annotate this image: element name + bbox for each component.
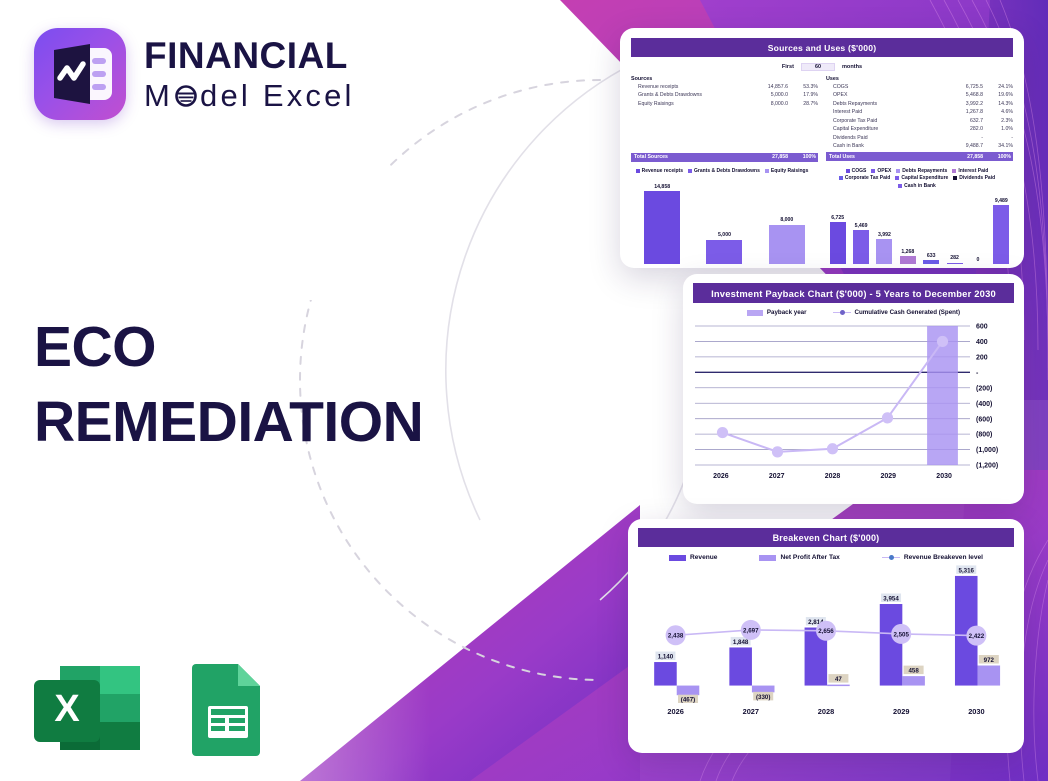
- bar-group: 9,489: [993, 198, 1009, 265]
- y-axis-tick-label: (1,000): [976, 447, 998, 454]
- legend-item: Equity Raisings: [765, 168, 809, 174]
- revenue-value-label: 5,316: [959, 567, 975, 574]
- uses-label: COGS: [826, 83, 941, 91]
- bar-group: 3,992: [876, 232, 892, 264]
- sources-label: Revenue receipts: [631, 83, 746, 91]
- revenue-bar: [654, 662, 677, 686]
- months-input[interactable]: 60: [801, 63, 835, 71]
- x-axis-tick-label: 2026: [693, 473, 749, 480]
- breakeven-value-label: 2,422: [969, 633, 985, 640]
- sources-header: Sources: [631, 76, 818, 82]
- x-axis-tick-label: 2029: [864, 707, 939, 716]
- sources-uses-charts: Revenue receiptsGrants & Debts Drawdowns…: [631, 168, 1013, 265]
- legend-revenue: Revenue: [669, 554, 718, 561]
- x-axis-tick-label: 2028: [788, 707, 863, 716]
- legend-item: OPEX: [871, 168, 891, 174]
- svg-text:X: X: [54, 688, 80, 730]
- legend-item: Grants & Debts Drawdowns: [688, 168, 760, 174]
- first-label: First: [782, 64, 794, 70]
- legend-swatch-icon: [953, 176, 957, 180]
- bar: [876, 239, 892, 264]
- sources-uses-title: Sources and Uses ($'000): [631, 38, 1013, 57]
- page-title-line1: ECO: [34, 310, 423, 385]
- legend-swatch-icon: [669, 555, 686, 561]
- bar-group: 6,725: [830, 215, 846, 264]
- sources-total-pct: 100%: [788, 154, 818, 160]
- legend-line-icon: [833, 312, 851, 314]
- uses-value: 5,468.8: [941, 91, 983, 99]
- uses-label: Capital Expenditure: [826, 125, 941, 133]
- uses-pct: 1.0%: [983, 125, 1013, 133]
- uses-pct: -: [983, 134, 1013, 142]
- bar-group: 14,858: [644, 184, 680, 265]
- uses-pct: 19.6%: [983, 91, 1013, 99]
- npat-value-label: 47: [835, 676, 842, 683]
- uses-value: 282.0: [941, 125, 983, 133]
- bar: [830, 222, 846, 264]
- y-axis-tick-label: 600: [976, 324, 988, 331]
- payback-plot: 600400200-(200)(400)(600)(800)(1,000)(1,…: [693, 323, 1014, 470]
- sources-pct: 53.3%: [788, 83, 818, 91]
- uses-value: 1,267.8: [941, 108, 983, 116]
- revenue-bar: [880, 604, 903, 686]
- legend-swatch-icon: [759, 555, 776, 561]
- uses-row: Interest Paid1,267.84.6%: [826, 108, 1013, 116]
- y-axis-tick-label: 400: [976, 339, 988, 346]
- npat-bar: [752, 686, 775, 693]
- financial-model-app-icon: [34, 28, 126, 120]
- uses-pct: 34.1%: [983, 142, 1013, 150]
- brand-name-bottom-post: del Excel: [200, 80, 355, 111]
- legend-swatch-icon: [846, 169, 850, 173]
- legend-swatch-icon: [688, 169, 692, 173]
- breakeven-value-label: 2,656: [818, 628, 834, 635]
- legend-label: Capital Expenditure: [901, 175, 948, 181]
- bar: [769, 225, 805, 264]
- y-axis-tick-label: 200: [976, 354, 988, 361]
- breakeven-value-label: 2,505: [893, 631, 909, 638]
- payback-legend: Payback year Cumulative Cash Generated (…: [693, 309, 1014, 316]
- uses-label: Interest Paid: [826, 108, 941, 116]
- uses-value: 632.7: [941, 117, 983, 125]
- y-axis-tick-label: (1,200): [976, 463, 998, 470]
- breakeven-legend: Revenue Net Profit After Tax Revenue Bre…: [638, 554, 1014, 561]
- legend-label: Revenue receipts: [642, 168, 683, 174]
- uses-pct: 14.3%: [983, 100, 1013, 108]
- data-point: [937, 336, 948, 347]
- revenue-bar: [729, 647, 752, 685]
- x-axis-tick-label: 2027: [749, 473, 805, 480]
- bar-value-label: 0: [976, 257, 979, 263]
- x-axis-tick-label: 2027: [713, 707, 788, 716]
- cumulative-cash-line: [723, 341, 943, 451]
- legend-cumulative-cash: Cumulative Cash Generated (Spent): [833, 309, 961, 316]
- sources-uses-table: Sources Revenue receipts14,857.653.3%Gra…: [631, 76, 1013, 162]
- uses-label: Corporate Tax Paid: [826, 117, 941, 125]
- legend-label: Debts Repayments: [902, 168, 947, 174]
- npat-value-label: 458: [908, 668, 919, 675]
- payback-x-axis: 20262027202820292030: [693, 473, 1014, 480]
- sources-chart-block: Revenue receiptsGrants & Debts Drawdowns…: [631, 168, 818, 265]
- legend-item: Dividends Paid: [953, 175, 995, 181]
- npat-value-label: 972: [984, 657, 995, 664]
- npat-value-label: (330): [756, 694, 770, 701]
- legend-npat: Net Profit After Tax: [759, 554, 839, 561]
- legend-line-icon: [882, 557, 900, 559]
- uses-total-row: Total Uses 27,858 100%: [826, 152, 1013, 161]
- y-axis-tick-label: -: [976, 370, 979, 377]
- x-axis-tick-label: 2029: [860, 473, 916, 480]
- legend-label: COGS: [852, 168, 867, 174]
- sources-row: Revenue receipts14,857.653.3%: [631, 83, 818, 91]
- sources-total-row: Total Sources 27,858 100%: [631, 153, 818, 162]
- uses-pct: 24.1%: [983, 83, 1013, 91]
- legend-payback-year: Payback year: [747, 309, 807, 316]
- bar-group: 282: [947, 255, 963, 264]
- uses-row: Capital Expenditure282.01.0%: [826, 125, 1013, 133]
- legend-swatch-icon: [896, 169, 900, 173]
- bar-group: 1,268: [900, 249, 916, 264]
- sources-and-uses-card[interactable]: Sources and Uses ($'000) First 60 months…: [620, 28, 1024, 268]
- legend-swatch-icon: [952, 169, 956, 173]
- npat-bar: [902, 676, 925, 685]
- left-content-panel: FINANCIAL M del Excel ECO REMEDIATION: [0, 0, 500, 781]
- sources-pct: 17.9%: [788, 91, 818, 99]
- bar-value-label: 5,469: [855, 223, 868, 229]
- legend-item: Revenue receipts: [636, 168, 683, 174]
- npat-value-label: (467): [681, 697, 695, 703]
- breakeven-plot: 1,140(467)1,848(330)2,814473,9544585,316…: [638, 565, 1014, 703]
- page-title: ECO REMEDIATION: [34, 310, 423, 460]
- bar-value-label: 6,725: [831, 215, 844, 221]
- legend-label: OPEX: [877, 168, 891, 174]
- uses-row: COGS6,725.524.1%: [826, 83, 1013, 91]
- google-sheets-icon: [186, 658, 270, 758]
- sources-pct: 28.7%: [788, 100, 818, 108]
- sources-bar-chart: 14,8585,0008,000: [631, 180, 818, 264]
- legend-item: Cash in Bank: [898, 183, 936, 189]
- npat-bar: [978, 666, 1001, 686]
- o-glyph-icon: [173, 83, 199, 109]
- uses-label: Debts Repayments: [826, 100, 941, 108]
- bar: [644, 191, 680, 264]
- data-point: [882, 412, 893, 423]
- legend-item: COGS: [846, 168, 867, 174]
- bar: [900, 256, 916, 264]
- y-axis-tick-label: (600): [976, 416, 992, 423]
- brand-name-bottom-pre: M: [144, 80, 173, 111]
- breakeven-value-label: 2,438: [668, 633, 684, 640]
- microsoft-excel-icon: X: [30, 658, 148, 758]
- bar-value-label: 9,489: [995, 198, 1008, 204]
- app-compatibility-icons: X: [30, 658, 270, 758]
- y-axis-tick-label: (400): [976, 401, 992, 408]
- x-axis-tick-label: 2030: [939, 707, 1014, 716]
- bar-value-label: 3,992: [878, 232, 891, 238]
- legend-item: Debts Repayments: [896, 168, 947, 174]
- revenue-value-label: 3,954: [883, 596, 899, 603]
- legend-swatch-icon: [636, 169, 640, 173]
- sources-row: Equity Raisings8,000.028.7%: [631, 100, 818, 108]
- legend-label: Equity Raisings: [771, 168, 809, 174]
- bar: [947, 263, 963, 265]
- brand-name-bottom: M del Excel: [144, 80, 355, 111]
- legend-breakeven-level: Revenue Breakeven level: [882, 554, 983, 561]
- bar: [853, 230, 869, 264]
- bar-value-label: 14,858: [654, 184, 670, 190]
- uses-label: Cash in Bank: [826, 142, 941, 150]
- bar-group: 633: [923, 253, 939, 264]
- bar: [706, 240, 742, 265]
- legend-swatch-icon: [895, 176, 899, 180]
- uses-column: Uses COGS6,725.524.1%OPEX5,468.819.6%Deb…: [826, 76, 1013, 162]
- data-point: [827, 443, 838, 454]
- months-label: months: [842, 64, 862, 70]
- sources-row: Grants & Debts Drawdowns5,000.017.9%: [631, 91, 818, 99]
- x-axis-tick-label: 2026: [638, 707, 713, 716]
- legend-label: Interest Paid: [958, 168, 988, 174]
- bar-value-label: 282: [950, 255, 959, 261]
- bar-value-label: 1,268: [901, 249, 914, 255]
- uses-row: Dividends Paid--: [826, 134, 1013, 142]
- uses-value: 3,992.2: [941, 100, 983, 108]
- data-point: [772, 446, 783, 457]
- legend-label: Corporate Tax Paid: [845, 175, 890, 181]
- legend-swatch-icon: [765, 169, 769, 173]
- sources-value: 14,857.6: [746, 83, 788, 91]
- legend-item: Capital Expenditure: [895, 175, 948, 181]
- npat-bar: [677, 686, 700, 696]
- breakeven-card[interactable]: Breakeven Chart ($'000) Revenue Net Prof…: [628, 519, 1024, 753]
- legend-item: Corporate Tax Paid: [839, 175, 890, 181]
- uses-value: 9,488.7: [941, 142, 983, 150]
- uses-row: Corporate Tax Paid632.72.3%: [826, 117, 1013, 125]
- sources-total-value: 27,858: [746, 154, 788, 160]
- legend-swatch-icon: [871, 169, 875, 173]
- uses-value: 6,725.5: [941, 83, 983, 91]
- uses-total-value: 27,858: [941, 154, 983, 160]
- revenue-value-label: 1,848: [733, 639, 749, 646]
- x-axis-tick-label: 2028: [805, 473, 861, 480]
- uses-total-pct: 100%: [983, 154, 1013, 160]
- legend-label: Grants & Debts Drawdowns: [694, 168, 760, 174]
- data-point: [717, 427, 728, 438]
- sources-total-label: Total Sources: [631, 154, 746, 160]
- brand-name-top: FINANCIAL: [144, 37, 355, 74]
- page-title-line2: REMEDIATION: [34, 385, 423, 460]
- bar-group: 0: [970, 257, 986, 265]
- sources-column: Sources Revenue receipts14,857.653.3%Gra…: [631, 76, 818, 162]
- brand-logo: FINANCIAL M del Excel: [34, 28, 355, 120]
- payback-title: Investment Payback Chart ($'000) - 5 Yea…: [693, 283, 1014, 303]
- uses-pct: 2.3%: [983, 117, 1013, 125]
- legend-swatch-icon: [747, 310, 763, 316]
- uses-bar-chart: 6,7255,4693,9921,26863328209,489: [826, 194, 1013, 264]
- breakeven-x-axis: 20262027202820292030: [638, 707, 1014, 716]
- sources-chart-legend: Revenue receiptsGrants & Debts Drawdowns…: [631, 168, 818, 176]
- bar-value-label: 5,000: [718, 232, 731, 238]
- sources-value: 5,000.0: [746, 91, 788, 99]
- breakeven-value-label: 2,697: [743, 627, 759, 634]
- uses-chart-block: COGSOPEXDebts RepaymentsInterest PaidCor…: [826, 168, 1013, 265]
- legend-label: Cash in Bank: [904, 183, 936, 189]
- sources-uses-period-row: First 60 months: [631, 63, 1013, 71]
- breakeven-title: Breakeven Chart ($'000): [638, 528, 1014, 547]
- bar-group: 5,000: [706, 232, 742, 264]
- uses-total-label: Total Uses: [826, 154, 941, 160]
- legend-swatch-icon: [898, 184, 902, 188]
- revenue-value-label: 1,140: [658, 654, 674, 661]
- sources-label: Equity Raisings: [631, 100, 746, 108]
- uses-pct: 4.6%: [983, 108, 1013, 116]
- bar-group: 5,469: [853, 223, 869, 265]
- uses-value: -: [941, 134, 983, 142]
- npat-bar: [827, 685, 850, 687]
- sources-value: 8,000.0: [746, 100, 788, 108]
- legend-item: Interest Paid: [952, 168, 988, 174]
- bar-group: 8,000: [769, 217, 805, 264]
- uses-label: Dividends Paid: [826, 134, 941, 142]
- uses-row: Debts Repayments3,992.214.3%: [826, 100, 1013, 108]
- sources-label: Grants & Debts Drawdowns: [631, 91, 746, 99]
- uses-row: Cash in Bank9,488.734.1%: [826, 142, 1013, 150]
- bar: [993, 205, 1009, 264]
- bar-value-label: 8,000: [780, 217, 793, 223]
- legend-swatch-icon: [839, 176, 843, 180]
- bar-value-label: 633: [927, 253, 936, 259]
- investment-payback-card[interactable]: Investment Payback Chart ($'000) - 5 Yea…: [683, 274, 1024, 504]
- uses-label: OPEX: [826, 91, 941, 99]
- uses-header: Uses: [826, 76, 1013, 82]
- uses-row: OPEX5,468.819.6%: [826, 91, 1013, 99]
- bar: [923, 260, 939, 264]
- y-axis-tick-label: (800): [976, 432, 992, 439]
- y-axis-tick-label: (200): [976, 385, 992, 392]
- uses-chart-legend: COGSOPEXDebts RepaymentsInterest PaidCor…: [826, 168, 1013, 191]
- x-axis-tick-label: 2030: [916, 473, 972, 480]
- legend-label: Dividends Paid: [959, 175, 995, 181]
